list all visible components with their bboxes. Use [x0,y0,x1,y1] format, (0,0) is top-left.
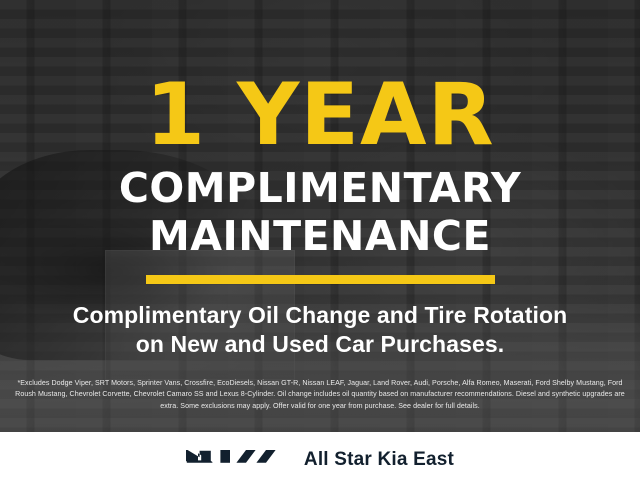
yellow-divider-bar [146,275,495,284]
offer-line-1: Complimentary Oil Change and Tire Rotati… [73,301,568,330]
headline-maintenance: MAINTENANCE [149,216,491,257]
footer-bar: All Star Kia East [0,432,640,488]
headline-year: 1 YEAR [145,78,495,154]
disclaimer-text: *Excludes Dodge Viper, SRT Motors, Sprin… [14,378,626,412]
hero-section: 1 YEAR COMPLIMENTARY MAINTENANCE Complim… [0,0,640,432]
hero-content: 1 YEAR COMPLIMENTARY MAINTENANCE Complim… [0,0,640,432]
headline-complimentary: COMPLIMENTARY [119,168,521,209]
kia-logo [186,445,282,476]
dealer-name: All Star Kia East [304,449,454,471]
offer-line-2: on New and Used Car Purchases. [136,330,505,359]
promotional-banner: 1 YEAR COMPLIMENTARY MAINTENANCE Complim… [0,0,640,488]
